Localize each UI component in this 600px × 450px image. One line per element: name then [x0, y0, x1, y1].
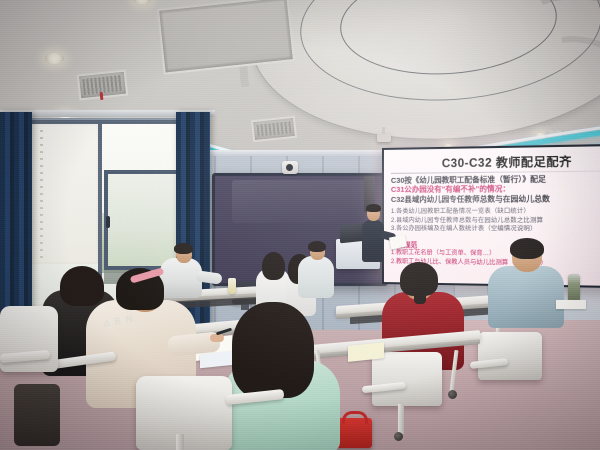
desk-caster	[448, 390, 457, 399]
hair	[308, 241, 326, 252]
slide-line: C32县域内幼儿园专任教师总数与在园幼儿总数	[391, 193, 600, 204]
camera-icon	[282, 161, 298, 174]
hair	[510, 238, 544, 259]
roller-blind[interactable]	[26, 124, 100, 264]
phone-on-desk	[556, 300, 586, 309]
downlight	[133, 0, 151, 4]
slide-list-item: 3.各公办园核编及在编人数统计表（空编情况说明）	[391, 225, 600, 235]
hair	[60, 266, 104, 306]
hair	[262, 252, 285, 280]
chair-post	[398, 404, 404, 434]
chair[interactable]	[372, 352, 442, 406]
drinking-glass	[228, 278, 236, 294]
hair	[232, 302, 314, 398]
hair-bun	[414, 288, 426, 304]
window-sash[interactable]	[104, 170, 182, 270]
slide-title: C30-C32 教师配足配齐	[391, 152, 600, 172]
torso	[488, 266, 564, 328]
torso	[298, 256, 334, 298]
chair[interactable]	[478, 332, 542, 380]
chair-caster	[394, 432, 403, 441]
downlight	[45, 53, 64, 64]
chair[interactable]	[136, 376, 232, 450]
slide-main-lines: C30按《幼儿园教职工配备标准（暂行）》配足 C31公办园没有"有编不补"的情况…	[391, 173, 600, 204]
classroom-photo: C30-C32 教师配足配齐 C30按《幼儿园教职工配备标准（暂行）》配足 C3…	[0, 0, 600, 450]
slide-numbered-list: 1.各类幼儿园教职工配备情况一览表（缺口统计） 2.县域内幼儿园专任教师总数与在…	[391, 208, 600, 235]
chair-post	[176, 434, 184, 450]
screen-glare	[232, 180, 368, 223]
handbag	[14, 384, 60, 446]
curtain-left[interactable]	[0, 112, 32, 337]
tumbler-bottle	[568, 274, 580, 302]
window-head	[24, 120, 178, 124]
presenter-torso	[362, 220, 384, 262]
presenter-hair	[366, 204, 381, 212]
hair	[174, 243, 193, 254]
window-handle[interactable]	[106, 216, 110, 228]
slide-list-item: 1.各类幼儿园教职工配备情况一览表（缺口统计）	[391, 208, 600, 217]
